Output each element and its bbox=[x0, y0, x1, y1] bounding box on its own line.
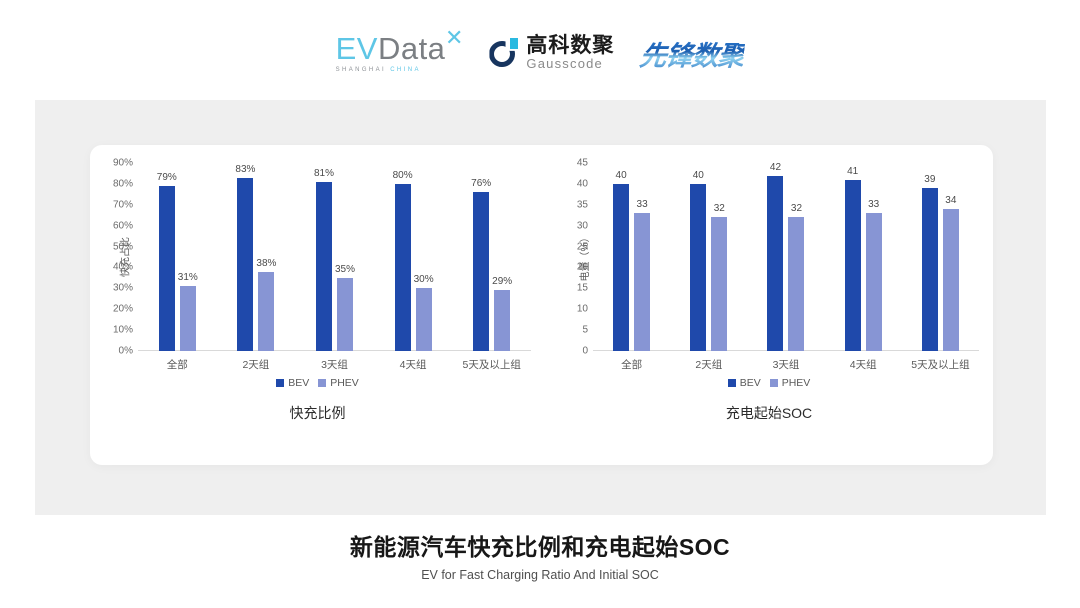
legend-item-bev[interactable]: BEV bbox=[276, 377, 309, 389]
bar-group: 81%35% bbox=[316, 163, 353, 351]
legend-label: BEV bbox=[740, 377, 761, 389]
legend-right: BEVPHEV bbox=[545, 377, 993, 389]
bar-value-label: 39 bbox=[924, 174, 935, 185]
legend-swatch-bev bbox=[728, 379, 736, 387]
x-axis-tick: 5天及以上组 bbox=[902, 357, 979, 372]
bar-phev: 38% bbox=[258, 272, 274, 351]
y-axis-tick: 30% bbox=[113, 283, 133, 294]
bar-value-label: 80% bbox=[393, 170, 413, 181]
bar-bev: 40 bbox=[690, 184, 706, 351]
footer-title-cn: 新能源汽车快充比例和充电起始SOC bbox=[0, 528, 1080, 562]
y-axis-tick: 45 bbox=[577, 158, 588, 169]
logo-xianfeng: 先锋数聚 bbox=[640, 34, 744, 73]
y-axis-tick: 25 bbox=[577, 241, 588, 252]
evdata-tagline: SHANGHAI CHINA bbox=[336, 67, 446, 73]
x-axis-tick: 4天组 bbox=[825, 357, 902, 372]
legend-label: PHEV bbox=[782, 377, 811, 389]
legend-label: BEV bbox=[288, 377, 309, 389]
bar-phev: 35% bbox=[337, 278, 353, 351]
bar-value-label: 31% bbox=[178, 272, 198, 283]
y-axis-tick: 0% bbox=[119, 346, 133, 357]
bar-group: 83%38% bbox=[237, 163, 274, 351]
chart-title-left: 快充比例 bbox=[90, 403, 545, 423]
y-axis-label-right: 电量（%） bbox=[576, 233, 591, 282]
x-axis-ticks-right: 全部2天组3天组4天组5天及以上组 bbox=[593, 357, 979, 372]
bar-value-label: 32 bbox=[791, 203, 802, 214]
x-axis-tick: 2天组 bbox=[670, 357, 747, 372]
y-axis-tick: 80% bbox=[113, 178, 133, 189]
x-axis-ticks-left: 全部2天组3天组4天组5天及以上组 bbox=[138, 357, 531, 372]
evdata-tagline-shanghai: SHANGHAI bbox=[336, 67, 387, 73]
y-axis-tick: 20% bbox=[113, 304, 133, 315]
bar-phev: 33 bbox=[866, 213, 882, 351]
y-axis-tick: 40% bbox=[113, 262, 133, 273]
legend-label: PHEV bbox=[330, 377, 359, 389]
y-axis-tick: 50% bbox=[113, 241, 133, 252]
x-axis-tick: 3天组 bbox=[747, 357, 824, 372]
evdata-tagline-china: CHINA bbox=[390, 67, 421, 73]
logo-bar: EVData ✕ SHANGHAI CHINA 高科数聚 Gausscode 先… bbox=[0, 22, 1080, 84]
bar-phev: 34 bbox=[943, 209, 959, 351]
bar-bev: 40 bbox=[613, 184, 629, 351]
y-axis-tick: 90% bbox=[113, 158, 133, 169]
chart-fast-charging-ratio: 快充占比 0%10%20%30%40%50%60%70%80%90% 79%31… bbox=[90, 145, 545, 465]
x-axis-tick: 2天组 bbox=[217, 357, 296, 372]
bar-value-label: 40 bbox=[693, 170, 704, 181]
bar-value-label: 38% bbox=[256, 258, 276, 269]
bar-phev: 33 bbox=[634, 213, 650, 351]
charts-card: 快充占比 0%10%20%30%40%50%60%70%80%90% 79%31… bbox=[90, 145, 993, 465]
bar-value-label: 34 bbox=[945, 195, 956, 206]
bar-value-label: 42 bbox=[770, 162, 781, 173]
bar-phev: 32 bbox=[711, 217, 727, 351]
evdata-data-text: Data bbox=[378, 31, 445, 66]
bar-group: 4033 bbox=[613, 163, 650, 351]
bar-group: 79%31% bbox=[159, 163, 196, 351]
legend-swatch-phev bbox=[318, 379, 326, 387]
bar-bev: 81% bbox=[316, 182, 332, 351]
bar-value-label: 76% bbox=[471, 178, 491, 189]
y-axis-tick: 40 bbox=[577, 178, 588, 189]
bar-groups-left: 79%31%83%38%81%35%80%30%76%29% bbox=[138, 163, 531, 351]
bar-phev: 32 bbox=[788, 217, 804, 351]
bar-group: 3934 bbox=[922, 163, 959, 351]
bar-bev: 76% bbox=[473, 192, 489, 351]
y-axis-tick: 15 bbox=[577, 283, 588, 294]
bar-value-label: 33 bbox=[868, 199, 879, 210]
y-axis-tick: 30 bbox=[577, 220, 588, 231]
bar-bev: 39 bbox=[922, 188, 938, 351]
bar-group: 80%30% bbox=[395, 163, 432, 351]
y-axis-tick: 0 bbox=[582, 346, 588, 357]
bar-value-label: 40 bbox=[616, 170, 627, 181]
y-axis-tick: 10% bbox=[113, 325, 133, 336]
bar-bev: 79% bbox=[159, 186, 175, 351]
bar-group: 4232 bbox=[767, 163, 804, 351]
bar-bev: 41 bbox=[845, 180, 861, 351]
bar-value-label: 83% bbox=[235, 164, 255, 175]
bar-value-label: 32 bbox=[714, 203, 725, 214]
y-axis-tick: 70% bbox=[113, 199, 133, 210]
bar-group: 76%29% bbox=[473, 163, 510, 351]
legend-swatch-bev bbox=[276, 379, 284, 387]
gausscode-cn-text: 高科数聚 bbox=[526, 35, 614, 57]
chart-title-right: 充电起始SOC bbox=[545, 403, 993, 423]
bar-phev: 30% bbox=[416, 288, 432, 351]
footer-title-en: EV for Fast Charging Ratio And Initial S… bbox=[0, 568, 1080, 582]
bar-phev: 31% bbox=[180, 286, 196, 351]
x-axis-tick: 全部 bbox=[138, 357, 217, 372]
bar-phev: 29% bbox=[494, 290, 510, 351]
bar-group: 4032 bbox=[690, 163, 727, 351]
logo-evdata: EVData ✕ SHANGHAI CHINA bbox=[336, 33, 464, 73]
footer: 新能源汽车快充比例和充电起始SOC EV for Fast Charging R… bbox=[0, 528, 1080, 582]
y-axis-tick: 10 bbox=[577, 304, 588, 315]
y-axis-tick: 35 bbox=[577, 199, 588, 210]
legend-left: BEVPHEV bbox=[90, 377, 545, 389]
y-axis-tick: 20 bbox=[577, 262, 588, 273]
logo-gausscode: 高科数聚 Gausscode bbox=[489, 35, 614, 71]
bar-value-label: 79% bbox=[157, 172, 177, 183]
xianfeng-wordmark: 先锋数聚 bbox=[638, 34, 746, 73]
bar-value-label: 35% bbox=[335, 264, 355, 275]
x-axis-tick: 4天组 bbox=[374, 357, 453, 372]
gausscode-mark-icon bbox=[489, 38, 519, 68]
evdata-wordmark: EVData bbox=[336, 33, 446, 64]
y-axis-tick: 60% bbox=[113, 220, 133, 231]
bar-bev: 42 bbox=[767, 176, 783, 351]
bar-bev: 80% bbox=[395, 184, 411, 351]
bar-value-label: 33 bbox=[637, 199, 648, 210]
bar-group: 4133 bbox=[845, 163, 882, 351]
evdata-ev-text: EV bbox=[336, 31, 378, 66]
bar-bev: 83% bbox=[237, 178, 253, 351]
legend-item-phev[interactable]: PHEV bbox=[318, 377, 359, 389]
gausscode-en-text: Gausscode bbox=[526, 57, 614, 71]
chart-initial-soc: 电量（%） 051015202530354045 403340324232413… bbox=[545, 145, 993, 465]
legend-swatch-phev bbox=[770, 379, 778, 387]
plot-area-left: 快充占比 0%10%20%30%40%50%60%70%80%90% 79%31… bbox=[138, 163, 531, 351]
y-axis-tick: 5 bbox=[582, 325, 588, 336]
legend-item-phev[interactable]: PHEV bbox=[770, 377, 811, 389]
bar-value-label: 81% bbox=[314, 168, 334, 179]
x-axis-tick: 全部 bbox=[593, 357, 670, 372]
bar-value-label: 41 bbox=[847, 166, 858, 177]
bar-value-label: 30% bbox=[414, 274, 434, 285]
bar-groups-right: 40334032423241333934 bbox=[593, 163, 979, 351]
bar-value-label: 29% bbox=[492, 276, 512, 287]
legend-item-bev[interactable]: BEV bbox=[728, 377, 761, 389]
x-icon: ✕ bbox=[445, 27, 463, 49]
x-axis-tick: 3天组 bbox=[295, 357, 374, 372]
x-axis-tick: 5天及以上组 bbox=[452, 357, 531, 372]
plot-area-right: 电量（%） 051015202530354045 403340324232413… bbox=[593, 163, 979, 351]
